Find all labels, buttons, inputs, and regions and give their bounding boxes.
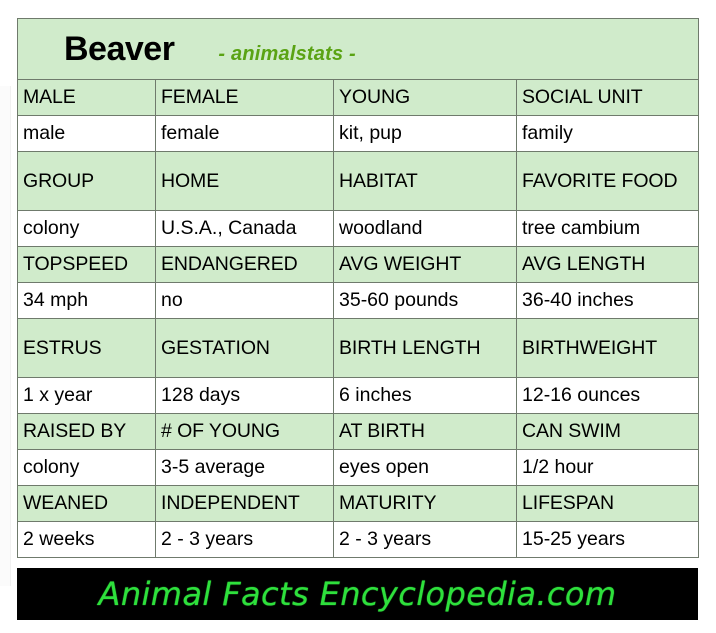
stat-label-cell: BIRTH LENGTH — [334, 319, 517, 378]
table-value-row: 1 x year128 days6 inches12-16 ounces — [18, 378, 699, 414]
stat-value-cell: tree cambium — [517, 211, 699, 247]
stat-value-cell: eyes open — [334, 450, 517, 486]
page-subtitle: - animalstats - — [218, 43, 355, 66]
stat-label-cell: AVG WEIGHT — [334, 247, 517, 283]
stat-label-cell: ENDANGERED — [156, 247, 334, 283]
table-value-row: malefemalekit, pupfamily — [18, 116, 699, 152]
stat-label-cell: ESTRUS — [18, 319, 156, 378]
stat-label-cell: TOPSPEED — [18, 247, 156, 283]
table-value-row: colony 3-5 averageeyes open1/2 hour — [18, 450, 699, 486]
stat-label-cell: GROUP — [18, 152, 156, 211]
animal-stats-card: Beaver - animalstats - MALEFEMALEYOUNGSO… — [0, 0, 716, 633]
table-label-row: MALEFEMALEYOUNGSOCIAL UNIT — [18, 80, 699, 116]
stat-label-cell: WEANED — [18, 486, 156, 522]
table-label-row: GROUPHOMEHABITATFAVORITE FOOD — [18, 152, 699, 211]
stat-value-cell: U.S.A., Canada — [156, 211, 334, 247]
title-banner-cell: Beaver - animalstats - — [18, 19, 699, 80]
animal-stats-table: Beaver - animalstats - MALEFEMALEYOUNGSO… — [17, 18, 699, 558]
stat-value-cell: 128 days — [156, 378, 334, 414]
stat-label-cell: MALE — [18, 80, 156, 116]
stat-label-cell: CAN SWIM — [517, 414, 699, 450]
page-title: Beaver — [64, 30, 174, 69]
stat-label-cell: BIRTHWEIGHT — [517, 319, 699, 378]
table-value-row: 2 weeks2 - 3 years2 - 3 years15-25 years — [18, 522, 699, 558]
stat-value-cell: 2 - 3 years — [156, 522, 334, 558]
footer-banner: Animal Facts Encyclopedia.com — [17, 568, 698, 620]
table-label-row: RAISED BY# OF YOUNGAT BIRTHCAN SWIM — [18, 414, 699, 450]
stats-card: Beaver - animalstats - MALEFEMALEYOUNGSO… — [17, 18, 698, 558]
stat-value-cell: 1 x year — [18, 378, 156, 414]
stat-label-cell: RAISED BY — [18, 414, 156, 450]
stats-table-body: Beaver - animalstats - MALEFEMALEYOUNGSO… — [18, 19, 699, 558]
title-banner-row: Beaver - animalstats - — [18, 19, 699, 80]
stat-label-cell: AVG LENGTH — [517, 247, 699, 283]
stat-value-cell: 2 - 3 years — [334, 522, 517, 558]
stat-value-cell: no — [156, 283, 334, 319]
stat-value-cell: 35-60 pounds — [334, 283, 517, 319]
stat-value-cell: 36-40 inches — [517, 283, 699, 319]
table-label-row: ESTRUSGESTATIONBIRTH LENGTHBIRTHWEIGHT — [18, 319, 699, 378]
stat-label-cell: AT BIRTH — [334, 414, 517, 450]
stat-value-cell: colony — [18, 450, 156, 486]
stat-value-cell: woodland — [334, 211, 517, 247]
stat-label-cell: SOCIAL UNIT — [517, 80, 699, 116]
stat-value-cell: 1/2 hour — [517, 450, 699, 486]
table-label-row: WEANEDINDEPENDENTMATURITYLIFESPAN — [18, 486, 699, 522]
stat-label-cell: FAVORITE FOOD — [517, 152, 699, 211]
stat-value-cell: 3-5 average — [156, 450, 334, 486]
stat-label-cell: YOUNG — [334, 80, 517, 116]
stat-label-cell: INDEPENDENT — [156, 486, 334, 522]
stat-value-cell: 12-16 ounces — [517, 378, 699, 414]
table-label-row: TOPSPEEDENDANGEREDAVG WEIGHTAVG LENGTH — [18, 247, 699, 283]
stat-value-cell: 6 inches — [334, 378, 517, 414]
stat-value-cell: colony — [18, 211, 156, 247]
footer-brand-text: Animal Facts Encyclopedia.com — [99, 575, 617, 613]
stat-value-cell: family — [517, 116, 699, 152]
stat-value-cell: 2 weeks — [18, 522, 156, 558]
stat-label-cell: FEMALE — [156, 80, 334, 116]
stat-label-cell: HOME — [156, 152, 334, 211]
paper-edge-decoration — [0, 86, 11, 586]
stat-value-cell: male — [18, 116, 156, 152]
stat-value-cell: 15-25 years — [517, 522, 699, 558]
stat-label-cell: # OF YOUNG — [156, 414, 334, 450]
stat-label-cell: MATURITY — [334, 486, 517, 522]
stat-value-cell: kit, pup — [334, 116, 517, 152]
table-value-row: 34 mphno35-60 pounds36-40 inches — [18, 283, 699, 319]
stat-value-cell: 34 mph — [18, 283, 156, 319]
stat-label-cell: HABITAT — [334, 152, 517, 211]
stat-value-cell: female — [156, 116, 334, 152]
table-value-row: colonyU.S.A., Canadawoodlandtree cambium — [18, 211, 699, 247]
stat-label-cell: LIFESPAN — [517, 486, 699, 522]
stat-label-cell: GESTATION — [156, 319, 334, 378]
